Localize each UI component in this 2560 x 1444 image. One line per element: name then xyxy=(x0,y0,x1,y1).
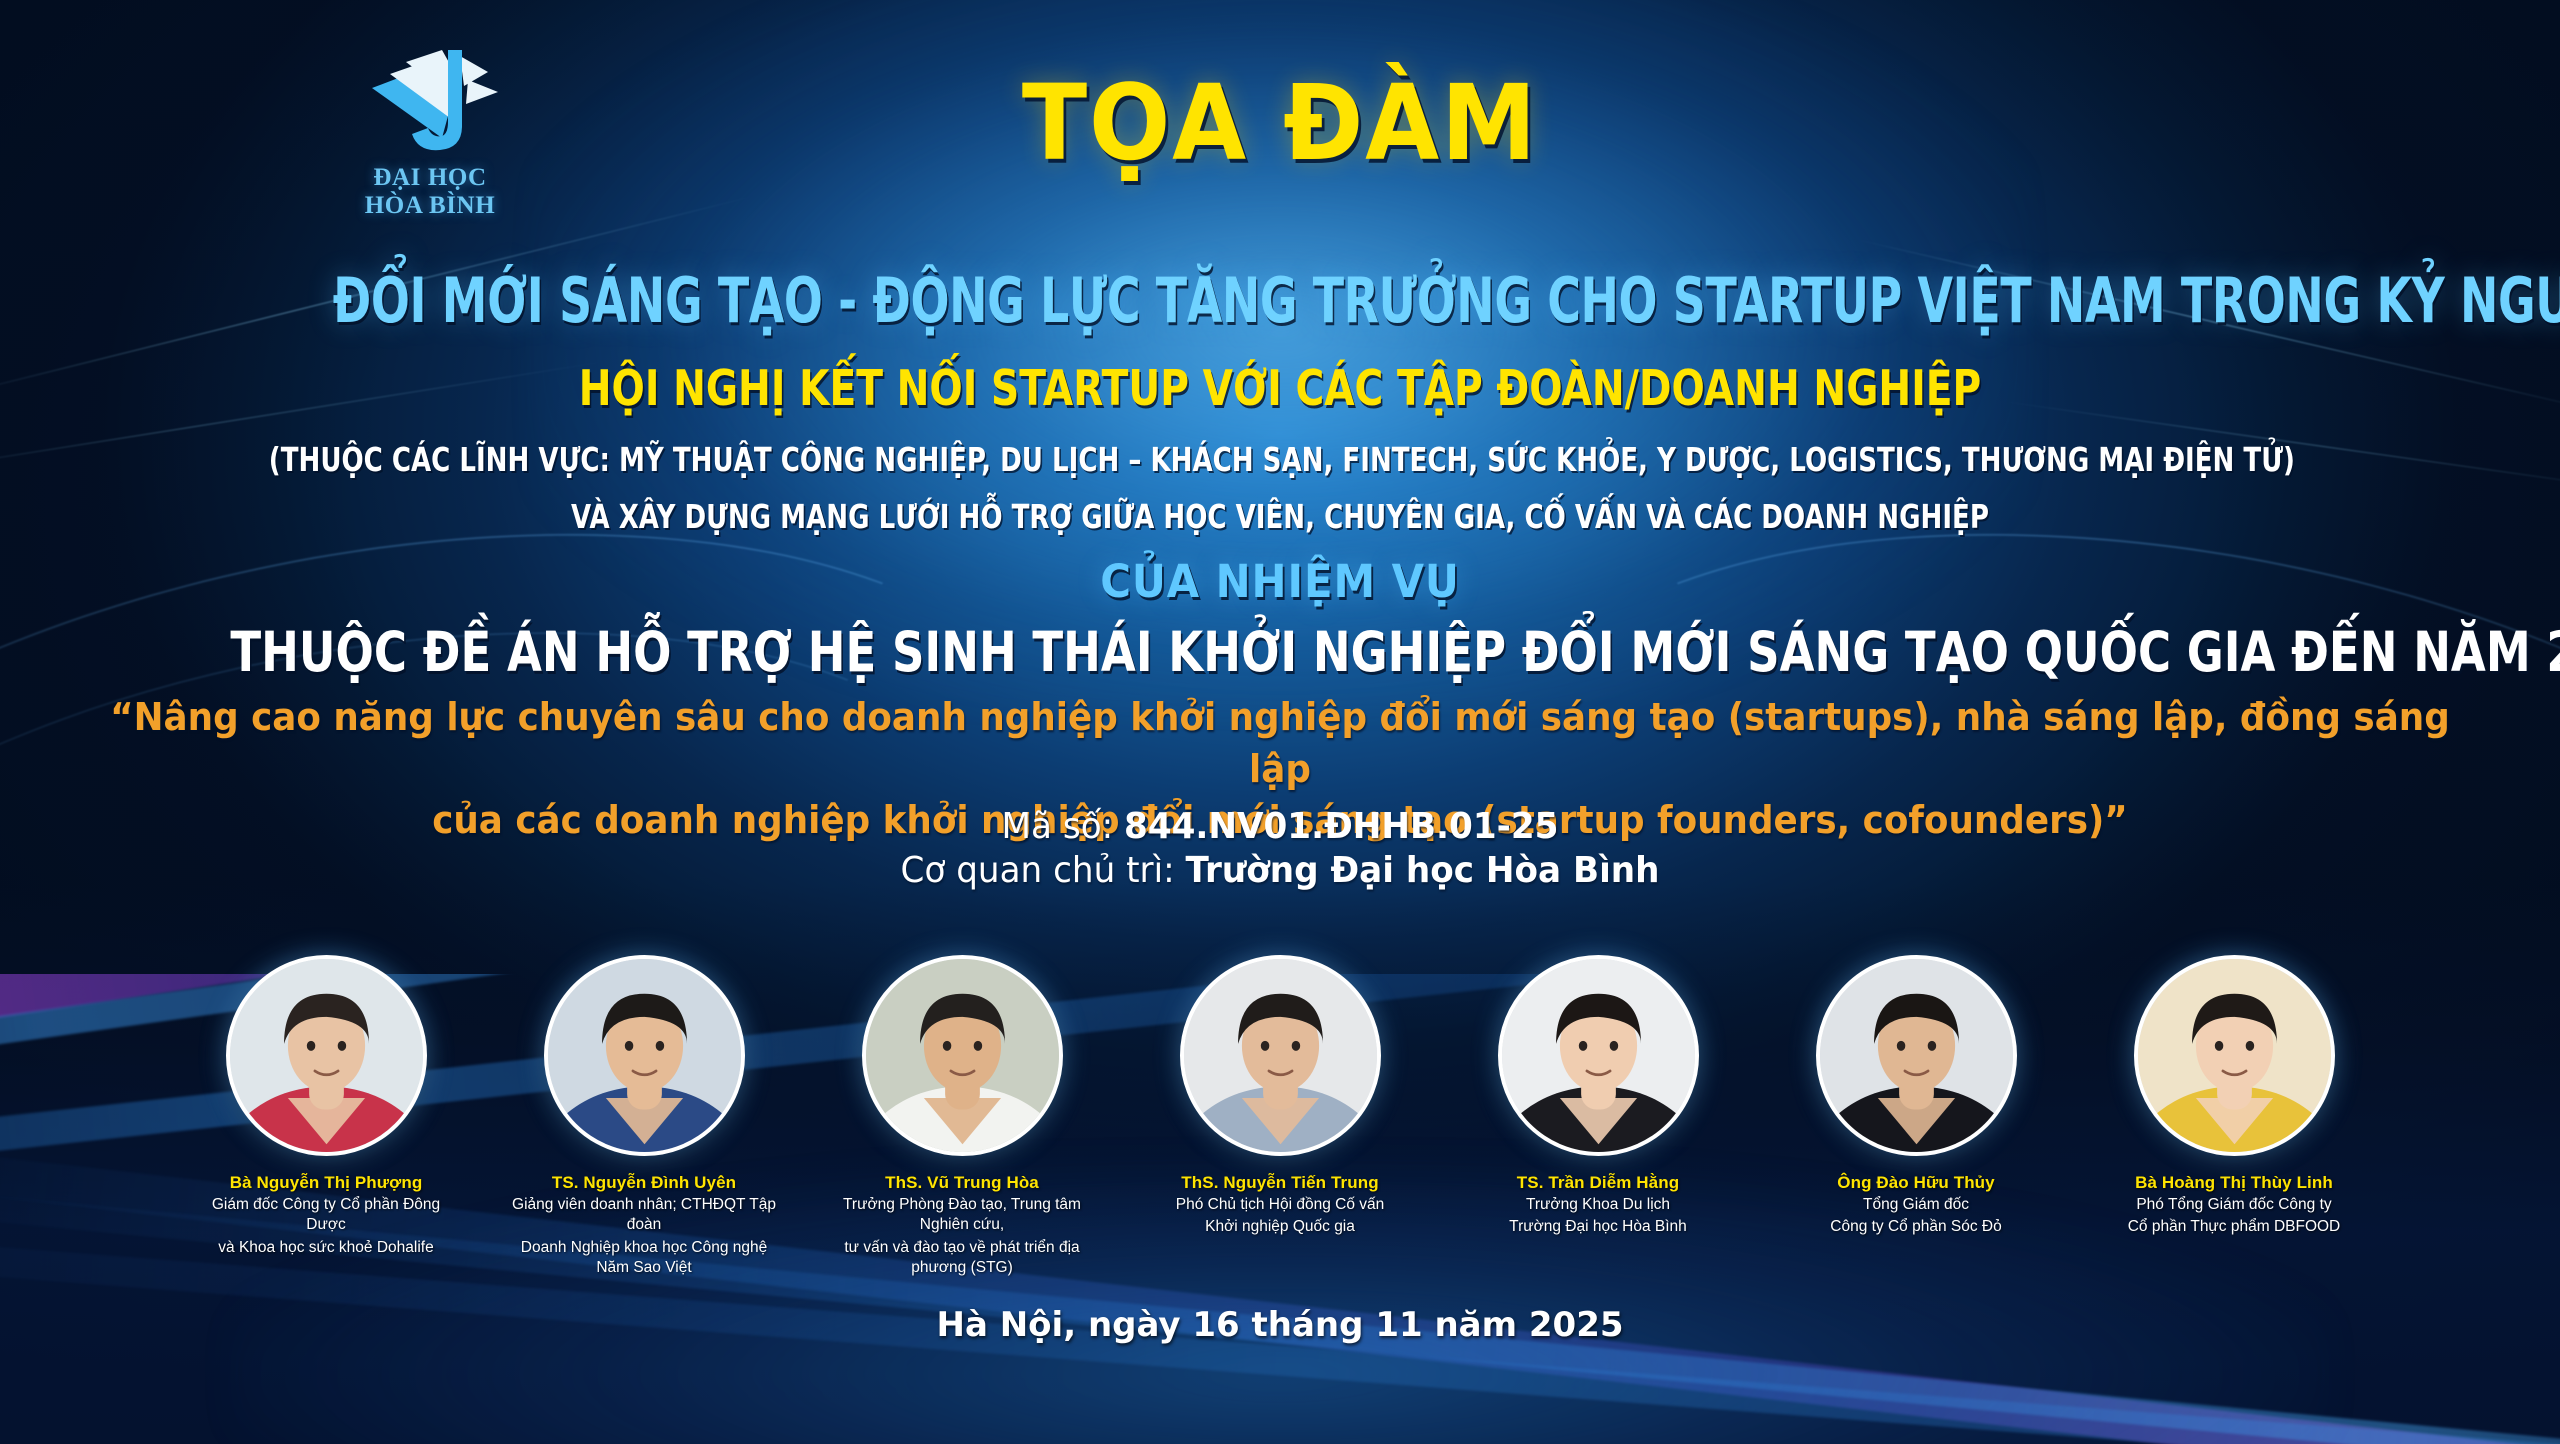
speaker-card: ThS. Vũ Trung HòaTrưởng Phòng Đào tạo, T… xyxy=(828,955,1096,1285)
speaker-role-line-2: và Khoa học sức khoẻ Dohalife xyxy=(192,1238,460,1258)
of-task-label: CỦA NHIỆM VỤ xyxy=(90,555,2471,608)
speaker-role-line-1: Giám đốc Công ty Cổ phần Đông Dược xyxy=(192,1195,460,1235)
speaker-name: TS. Nguyễn Đình Uyên xyxy=(510,1172,778,1193)
speaker-role-line-1: Trưởng Khoa Du lịch xyxy=(1464,1195,1732,1215)
speaker-role-line-2: Khởi nghiệp Quốc gia xyxy=(1146,1217,1414,1237)
logo-text-line1: ĐẠI HỌC xyxy=(320,164,540,192)
speaker-role-line-1: Phó Tổng Giám đốc Công ty xyxy=(2100,1195,2368,1215)
logo-text-line2: HÒA BÌNH xyxy=(320,192,540,220)
speaker-name: ThS. Vũ Trung Hòa xyxy=(828,1172,1096,1193)
speaker-name: Bà Hoàng Thị Thùy Linh xyxy=(2100,1172,2368,1193)
speaker-card: Ông Đào Hữu ThủyTổng Giám đốcCông ty Cổ … xyxy=(1782,955,2050,1285)
speaker-card: Bà Nguyễn Thị PhượngGiám đốc Công ty Cổ … xyxy=(192,955,460,1285)
logo-text: ĐẠI HỌC HÒA BÌNH xyxy=(320,164,540,220)
project-code: Mã số: 844.NV01.ĐHHB.01-25 xyxy=(64,806,2496,847)
portrait-tran-diem-hang-avatar xyxy=(1498,955,1699,1156)
speaker-card: TS. Trần Diễm HằngTrưởng Khoa Du lịchTrư… xyxy=(1464,955,1732,1285)
university-logo: ĐẠI HỌC HÒA BÌNH xyxy=(320,42,540,220)
speaker-role-line-1: Trưởng Phòng Đào tạo, Trung tâm Nghiên c… xyxy=(828,1195,1096,1235)
program-quote-line-1: “Nâng cao năng lực chuyên sâu cho doanh … xyxy=(77,692,2483,795)
portrait-nguyen-tien-trung-avatar xyxy=(1180,955,1381,1156)
host-organization: Cơ quan chủ trì: Trường Đại học Hòa Bình xyxy=(64,850,2496,891)
speaker-role-line-1: Tổng Giám đốc xyxy=(1782,1195,2050,1215)
speaker-role-line-2: Doanh Nghiệp khoa học Công nghệ Năm Sao … xyxy=(510,1238,778,1278)
speaker-role-line-2: Cổ phần Thực phẩm DBFOOD xyxy=(2100,1217,2368,1237)
speaker-role-line-1: Giảng viên doanh nhân; CTHĐQT Tập đoàn xyxy=(510,1195,778,1235)
speaker-role-line-1: Phó Chủ tịch Hội đồng Cố vấn xyxy=(1146,1195,1414,1215)
speaker-role-line-2: Công ty Cổ phần Sóc Đỏ xyxy=(1782,1217,2050,1237)
portrait-nguyen-thi-phuong-avatar xyxy=(226,955,427,1156)
speaker-name: TS. Trần Diễm Hằng xyxy=(1464,1172,1732,1193)
speaker-name: ThS. Nguyễn Tiến Trung xyxy=(1146,1172,1414,1193)
speaker-role-line-2: tư vấn và đào tạo về phát triển địa phươ… xyxy=(828,1238,1096,1278)
hoa-binh-university-logo-icon xyxy=(356,42,504,160)
project-code-label: Mã số: xyxy=(1002,806,1114,847)
event-date: Hà Nội, ngày 16 tháng 11 năm 2025 xyxy=(0,1305,2560,1345)
program-title: THUỘC ĐỀ ÁN HỖ TRỢ HỆ SINH THÁI KHỞI NGH… xyxy=(230,620,2329,684)
project-code-value: 844.NV01.ĐHHB.01-25 xyxy=(1124,806,1558,847)
speaker-list: Bà Nguyễn Thị PhượngGiám đốc Công ty Cổ … xyxy=(0,955,2560,1285)
portrait-nguyen-dinh-uyen-avatar xyxy=(544,955,745,1156)
main-title: ĐỔI MỚI SÁNG TẠO - ĐỘNG LỰC TĂNG TRƯỞNG … xyxy=(333,264,2227,337)
speaker-card: ThS. Nguyễn Tiến TrungPhó Chủ tịch Hội đ… xyxy=(1146,955,1414,1285)
scope-line-1: (THUỘC CÁC LĨNH VỰC: MỸ THUẬT CÔNG NGHIỆ… xyxy=(269,440,2291,479)
scope-line-2: VÀ XÂY DỰNG MẠNG LƯỚI HỖ TRỢ GIỮA HỌC VI… xyxy=(269,497,2291,536)
host-organization-label: Cơ quan chủ trì: xyxy=(901,850,1175,891)
host-organization-value: Trường Đại học Hòa Bình xyxy=(1185,850,1659,891)
banner-canvas: ĐẠI HỌC HÒA BÌNH TỌA ĐÀM ĐỔI MỚI SÁNG TẠ… xyxy=(0,0,2560,1444)
portrait-dao-huu-thuy-avatar xyxy=(1816,955,2017,1156)
speaker-role-line-2: Trường Đại học Hòa Bình xyxy=(1464,1217,1732,1237)
speaker-card: TS. Nguyễn Đình UyênGiảng viên doanh nhâ… xyxy=(510,955,778,1285)
portrait-vu-trung-hoa-avatar xyxy=(862,955,1063,1156)
speaker-card: Bà Hoàng Thị Thùy LinhPhó Tổng Giám đốc … xyxy=(2100,955,2368,1285)
speaker-name: Bà Nguyễn Thị Phượng xyxy=(192,1172,460,1193)
speaker-name: Ông Đào Hữu Thủy xyxy=(1782,1172,2050,1193)
subtitle: HỘI NGHỊ KẾT NỐI STARTUP VỚI CÁC TẬP ĐOÀ… xyxy=(256,360,2304,417)
portrait-hoang-thi-thuy-linh-avatar xyxy=(2134,955,2335,1156)
